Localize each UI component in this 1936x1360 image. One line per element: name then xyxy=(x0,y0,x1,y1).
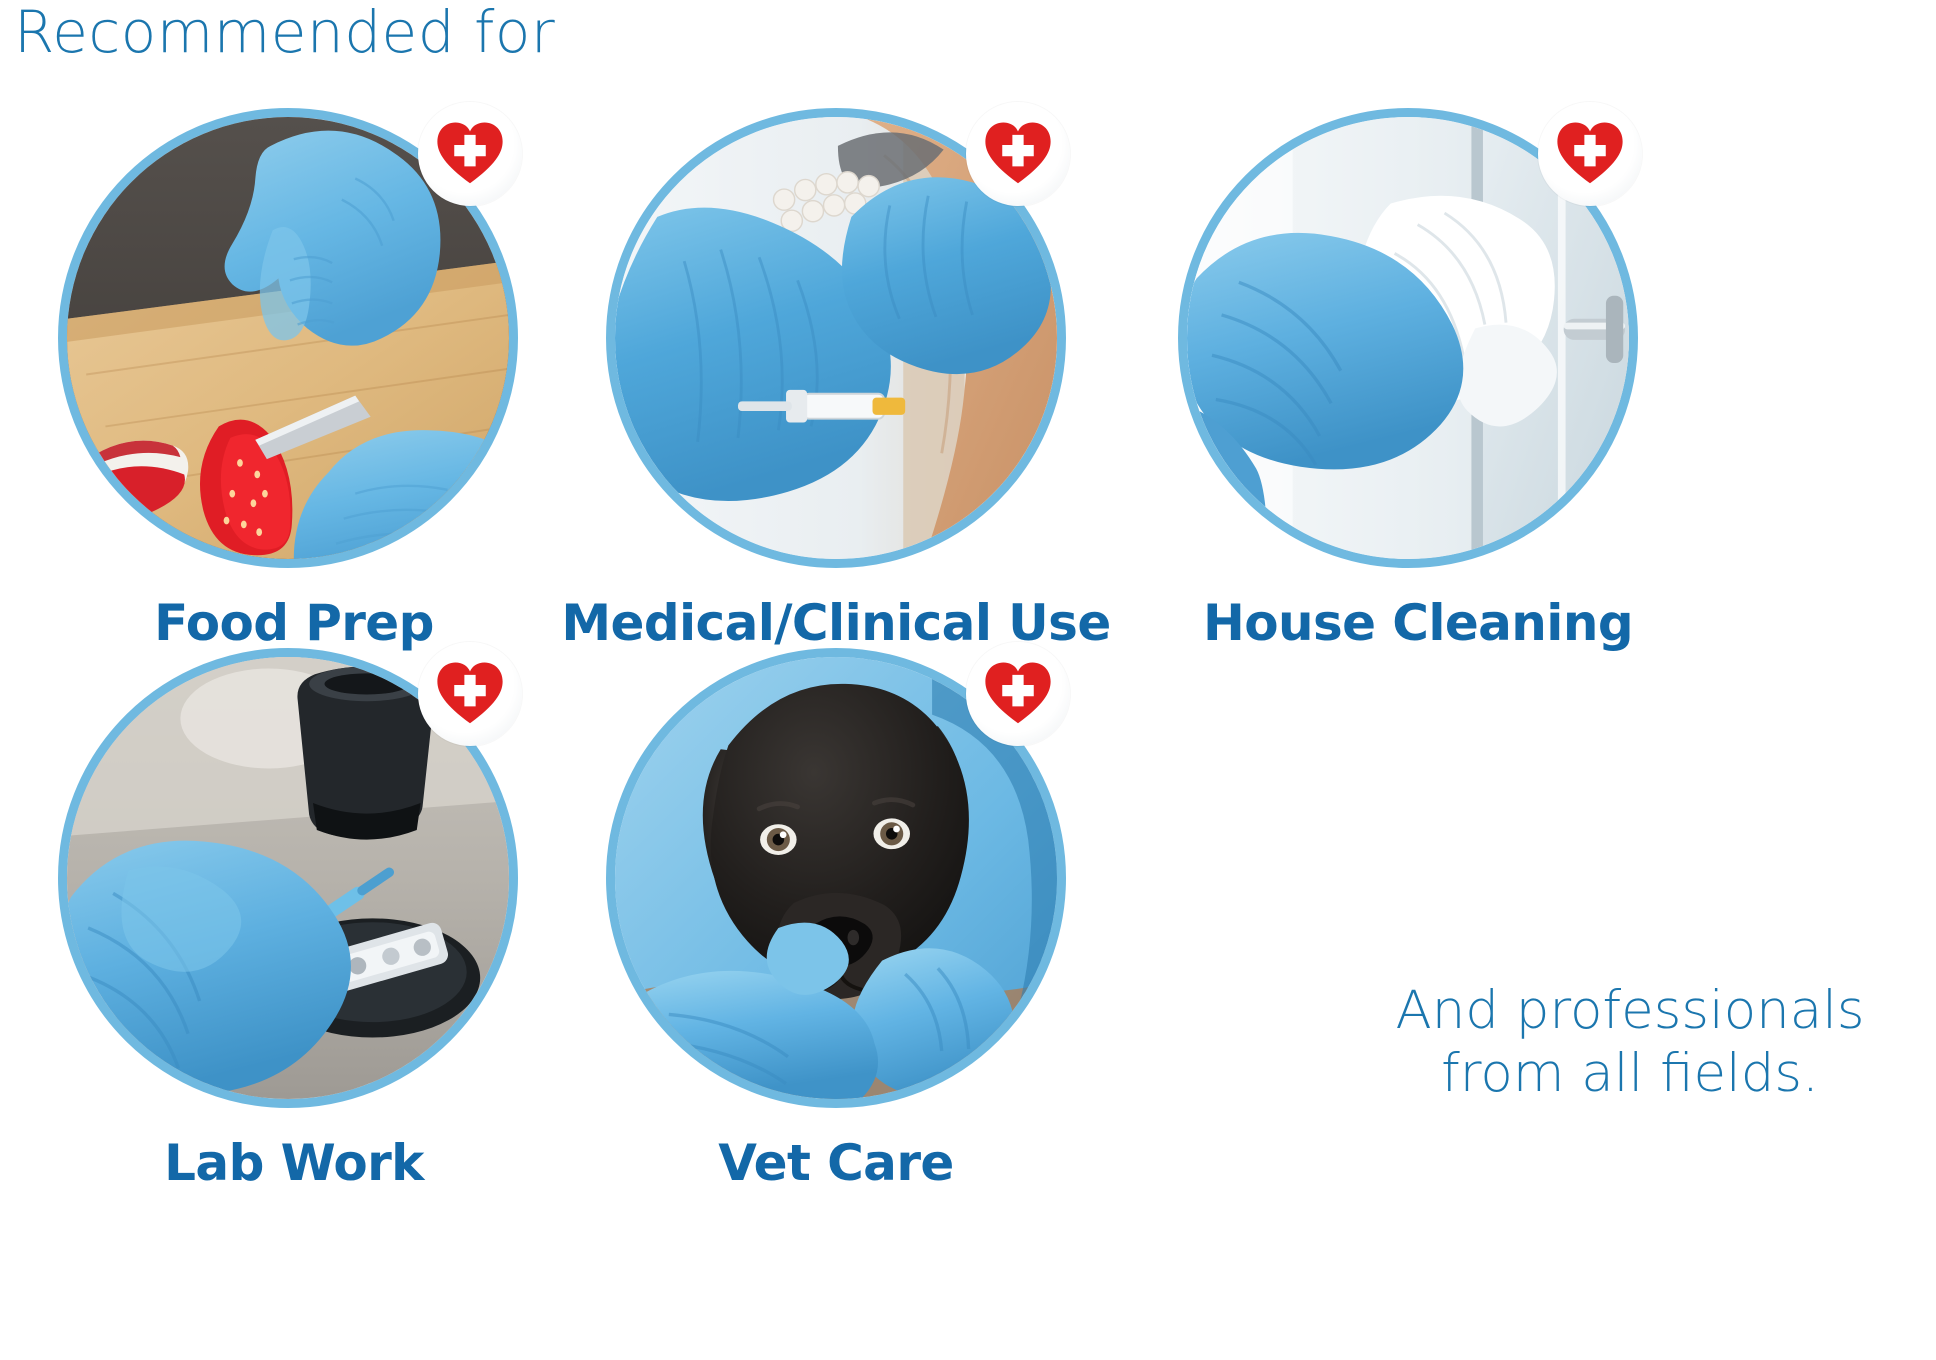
closing-note: And professionals from all fields. xyxy=(1330,980,1930,1105)
heart-with-medical-cross-icon xyxy=(1538,102,1642,206)
use-case-card-lab-work: Lab Work xyxy=(48,648,528,1192)
closing-note-line-2: from all fields. xyxy=(1330,1043,1930,1106)
use-case-card-house-cleaning: House Cleaning xyxy=(1168,108,1648,652)
heart-with-medical-cross-icon xyxy=(966,102,1070,206)
use-case-card-food-prep: Food Prep xyxy=(48,108,528,652)
circle-wrap-food-prep xyxy=(58,108,518,568)
circle-wrap-vet-care xyxy=(606,648,1066,1108)
heart-with-medical-cross-icon xyxy=(418,102,522,206)
closing-note-line-1: And professionals xyxy=(1330,980,1930,1043)
recommended-uses-grid: Food Prep xyxy=(0,0,1936,1360)
circle-wrap-house-cleaning xyxy=(1178,108,1638,568)
use-case-label-lab-work: Lab Work xyxy=(60,1134,528,1192)
circle-wrap-lab-work xyxy=(58,648,518,1108)
use-case-card-vet-care: Vet Care xyxy=(596,648,1076,1192)
circle-wrap-medical-clinical-use xyxy=(606,108,1066,568)
use-case-card-medical-clinical-use: Medical/Clinical Use xyxy=(596,108,1076,652)
heart-with-medical-cross-icon xyxy=(966,642,1070,746)
heart-with-medical-cross-icon xyxy=(418,642,522,746)
use-case-label-house-cleaning: House Cleaning xyxy=(1038,594,1798,652)
use-case-label-vet-care: Vet Care xyxy=(596,1134,1076,1192)
